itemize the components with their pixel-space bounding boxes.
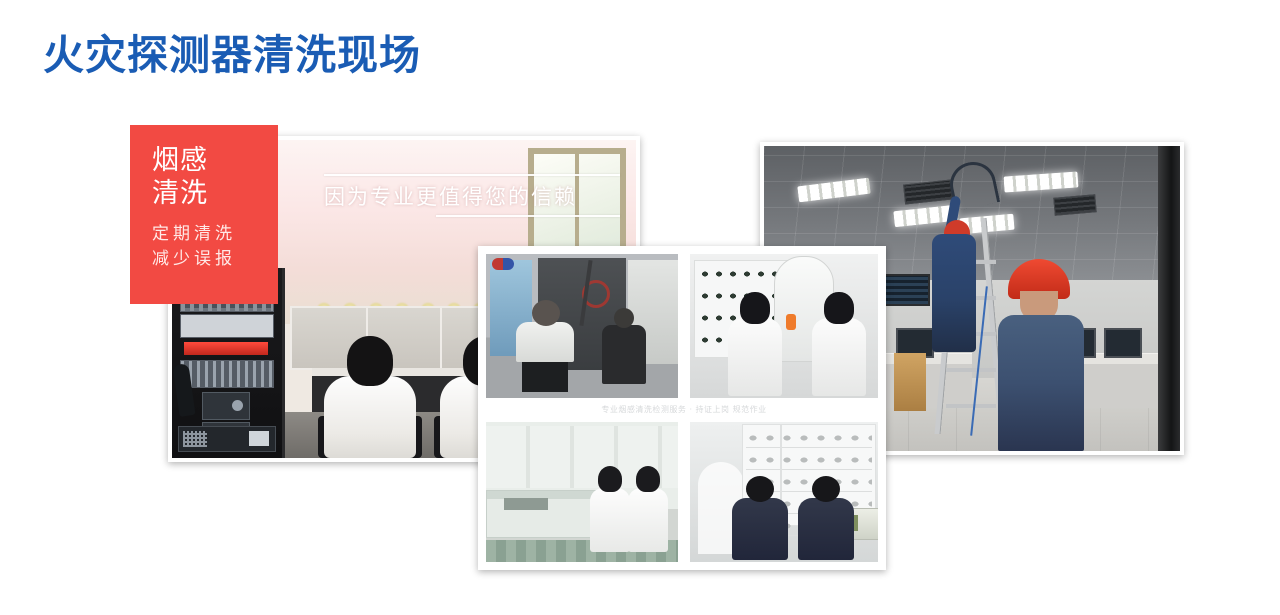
lab-coat (590, 488, 630, 552)
cabinet-dial-upper (202, 392, 250, 420)
lab-technician-right (812, 292, 866, 396)
page-title: 火灾探测器清洗现场 (43, 33, 421, 78)
workflow-collage-image: 专业烟感清洗检测服务 · 持证上岗 规范作业 (484, 252, 880, 564)
cabinet-keypad (178, 426, 276, 452)
head (347, 336, 393, 386)
tray-row (699, 267, 783, 281)
badge-subtext-line2: 减少误报 (152, 247, 278, 273)
lab-coat (812, 318, 866, 396)
head (614, 308, 634, 328)
tagline-text: 因为专业更值得您的信赖 (324, 176, 620, 215)
head (636, 466, 660, 492)
collage-cell-1[interactable] (484, 252, 680, 400)
shirt (602, 325, 646, 384)
lab-technician-back (628, 466, 668, 552)
ladder-step (946, 368, 996, 372)
collage-watermark-text: 专业烟感清洗检测服务 · 持证上岗 规范作业 (504, 402, 864, 418)
ultrasonic-sink (504, 498, 548, 510)
lab-coat (324, 376, 416, 458)
ladder-step (946, 404, 996, 408)
wooden-chair (894, 353, 926, 411)
wall-monitor (882, 274, 930, 306)
cabinet-panel-mid (180, 360, 274, 388)
shirt (516, 322, 574, 362)
head (532, 300, 560, 326)
smoke-detector-cleaning-badge[interactable]: 烟感 清洗 定期清洗 减少误报 (130, 125, 278, 304)
tagline-overlay: 因为专业更值得您的信赖 (324, 174, 620, 217)
door-frame (1158, 146, 1180, 451)
badge-headline-line1: 烟感 (152, 145, 278, 178)
work-jacket (732, 498, 788, 560)
work-uniform (998, 315, 1084, 451)
collage-cell-3[interactable] (484, 420, 680, 564)
wall-sign (492, 258, 514, 270)
head (740, 292, 770, 324)
legs (522, 358, 568, 392)
orange-tool (786, 314, 796, 330)
worker-dark-shirt (602, 308, 646, 384)
badge-headline: 烟感 清洗 (152, 145, 278, 211)
operator-right (798, 476, 854, 560)
head (598, 466, 622, 492)
worker-on-ladder (928, 190, 982, 350)
head (824, 292, 854, 324)
worker-white-shirt (516, 300, 574, 392)
operator-left (732, 476, 788, 560)
head (812, 476, 840, 502)
lab-technician-left (728, 292, 782, 396)
collage-cell-2[interactable] (688, 252, 880, 400)
head (746, 476, 774, 502)
cabinet-alarm-bar (184, 342, 268, 355)
lab-technician-front (590, 466, 630, 552)
technician-seated-left (324, 336, 416, 458)
shelf-row (746, 429, 872, 448)
work-jacket (798, 498, 854, 560)
shelf-row (746, 451, 872, 470)
cabinet-label-strip (180, 314, 274, 338)
worker-with-red-helmet (998, 259, 1084, 451)
lab-coat (728, 318, 782, 396)
badge-headline-line2: 清洗 (152, 178, 278, 211)
badge-subtext: 定期清洗 减少误报 (152, 222, 278, 273)
tagline-rule-bottom (436, 215, 620, 217)
lab-coat (628, 488, 668, 552)
work-uniform (932, 234, 976, 352)
workflow-collage-frame[interactable]: 专业烟感清洗检测服务 · 持证上岗 规范作业 (478, 246, 886, 570)
ceiling-air-vent (1053, 194, 1096, 216)
badge-subtext-line1: 定期清洗 (152, 222, 278, 248)
console-screen (1104, 328, 1142, 358)
collage-cell-4[interactable] (688, 420, 880, 564)
